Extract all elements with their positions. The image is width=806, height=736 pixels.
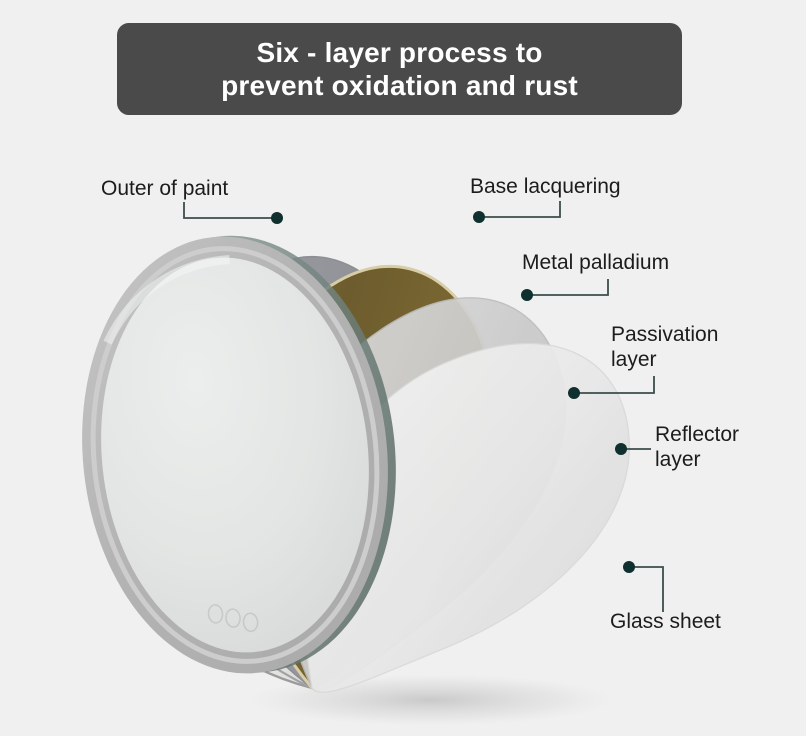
dot-metal-palladium xyxy=(521,289,533,301)
callout-label-reflector-line2: layer xyxy=(655,447,765,472)
leader-glass-sheet xyxy=(629,567,663,612)
dot-glass-sheet xyxy=(623,561,635,573)
title-line-1: Six - layer process to xyxy=(256,36,542,69)
callout-label-metal-palladium: Metal palladium xyxy=(522,250,669,275)
leader-outer-of-paint xyxy=(184,202,277,218)
callout-label-glass-sheet: Glass sheet xyxy=(610,609,721,634)
callout-label-passivation-line2: layer xyxy=(611,347,741,372)
callout-label-reflector-line1: Reflector xyxy=(655,422,765,447)
callout-label-outer-of-paint: Outer of paint xyxy=(101,176,228,201)
dot-base-lacquering xyxy=(473,211,485,223)
dot-reflector xyxy=(615,443,627,455)
callout-label-reflector-layer: Reflector layer xyxy=(655,422,765,472)
dot-passivation xyxy=(568,387,580,399)
title-line-2: prevent oxidation and rust xyxy=(221,69,578,102)
callout-label-passivation-layer: Passivation layer xyxy=(611,322,741,372)
infographic-canvas: Six - layer process to prevent oxidation… xyxy=(0,0,806,736)
leader-base-lacquering xyxy=(479,201,560,217)
callout-label-passivation-line1: Passivation xyxy=(611,322,741,347)
title-banner: Six - layer process to prevent oxidation… xyxy=(117,23,682,115)
dot-outer-of-paint xyxy=(271,212,283,224)
leader-metal-palladium xyxy=(527,279,608,295)
callout-label-base-lacquering: Base lacquering xyxy=(470,174,621,199)
